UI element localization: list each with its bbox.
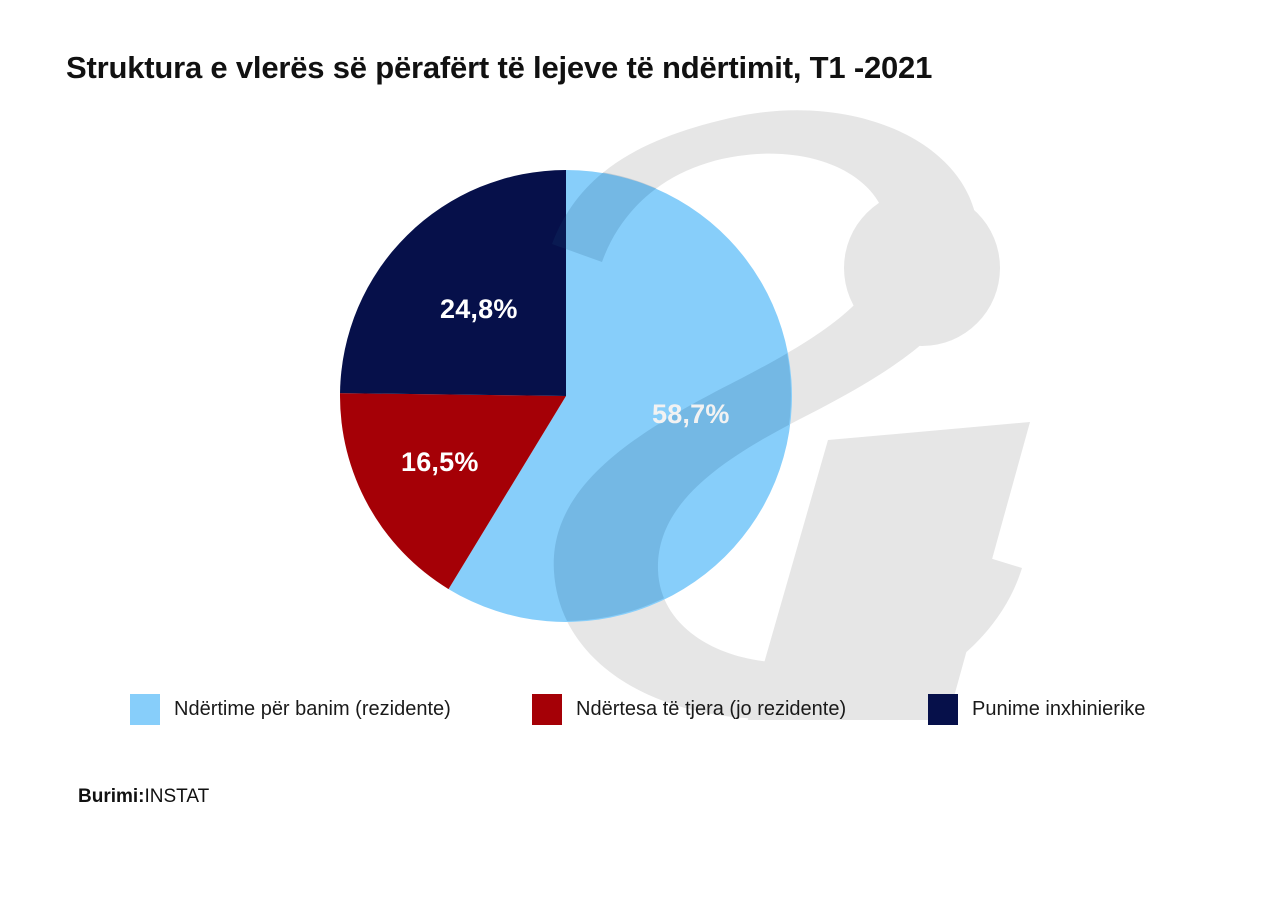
legend-item-engineering[interactable]: Punime inxhinierike (928, 692, 1145, 726)
legend-item-non-residential[interactable]: Ndërtesa të tjera (jo rezidente) (532, 692, 846, 726)
pie-label-non-residential: 16,5% (401, 447, 479, 478)
source-note: Burimi:INSTAT (78, 786, 209, 808)
chart-legend: Ndërtime për banim (rezidente) Ndërtesa … (0, 692, 1280, 728)
pie-slice-engineering[interactable] (340, 170, 566, 396)
pie-label-residential: 58,7% (652, 399, 730, 430)
source-value: INSTAT (145, 786, 210, 807)
legend-label-engineering: Punime inxhinierike (972, 698, 1145, 721)
chart-title: Struktura e vlerës së përafërt të lejeve… (66, 50, 1226, 86)
legend-swatch-engineering (928, 694, 958, 725)
source-label: Burimi: (78, 786, 145, 807)
pie-svg (340, 170, 792, 622)
legend-swatch-non-residential (532, 694, 562, 725)
pie-label-engineering: 24,8% (440, 294, 518, 325)
legend-label-residential: Ndërtime për banim (rezidente) (174, 698, 451, 721)
chart-canvas: Struktura e vlerës së përafërt të lejeve… (0, 0, 1280, 916)
legend-item-residential[interactable]: Ndërtime për banim (rezidente) (130, 692, 451, 726)
legend-label-non-residential: Ndërtesa të tjera (jo rezidente) (576, 698, 846, 721)
pie-chart (340, 170, 792, 622)
legend-swatch-residential (130, 694, 160, 725)
